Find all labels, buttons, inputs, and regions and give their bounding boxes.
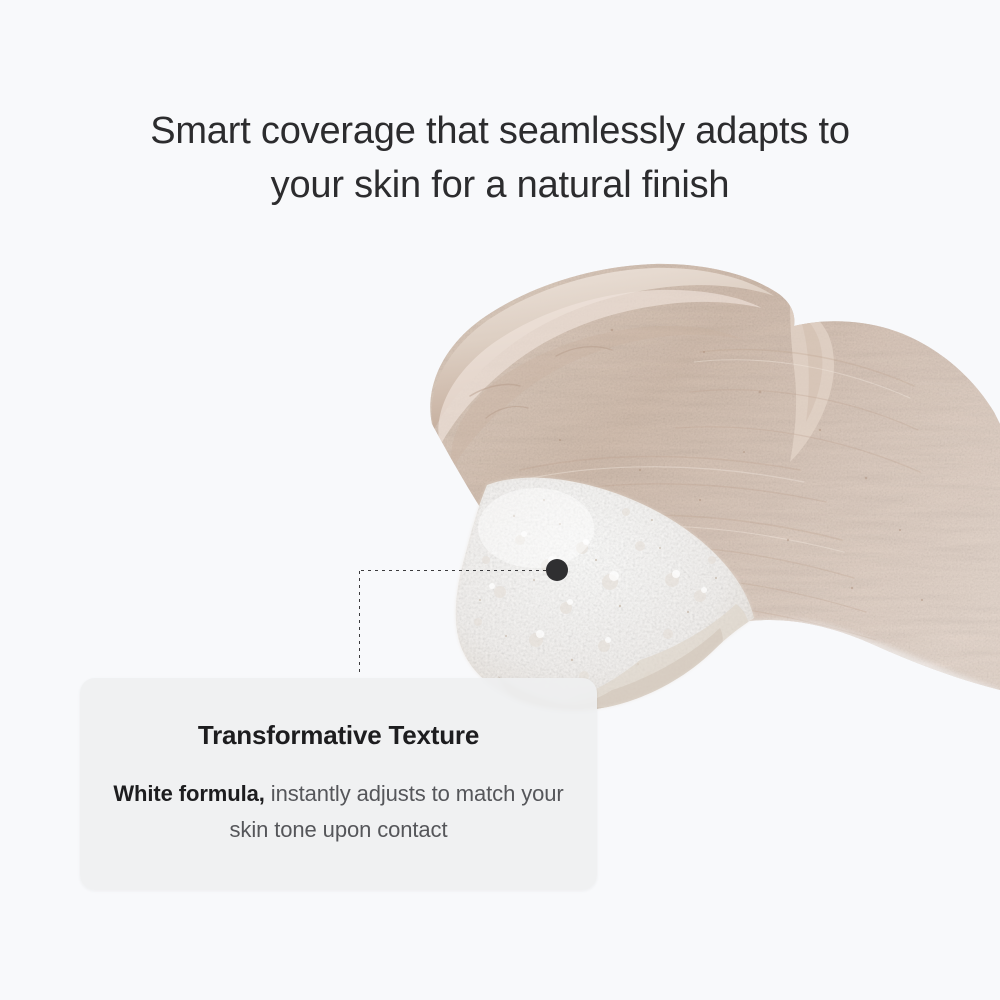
info-card: Transformative Texture White formula, in… xyxy=(80,678,597,890)
info-card-body-rest: instantly adjusts to match your skin ton… xyxy=(230,781,564,842)
texture-marker-dot[interactable] xyxy=(546,559,568,581)
leader-line-vertical xyxy=(358,569,361,675)
info-card-title: Transformative Texture xyxy=(80,720,597,751)
leader-line-horizontal xyxy=(359,569,559,572)
info-card-body: White formula, instantly adjusts to matc… xyxy=(98,776,579,848)
info-card-body-emphasis: White formula, xyxy=(113,781,264,806)
product-feature-canvas: Smart coverage that seamlessly adapts to… xyxy=(0,0,1000,1000)
